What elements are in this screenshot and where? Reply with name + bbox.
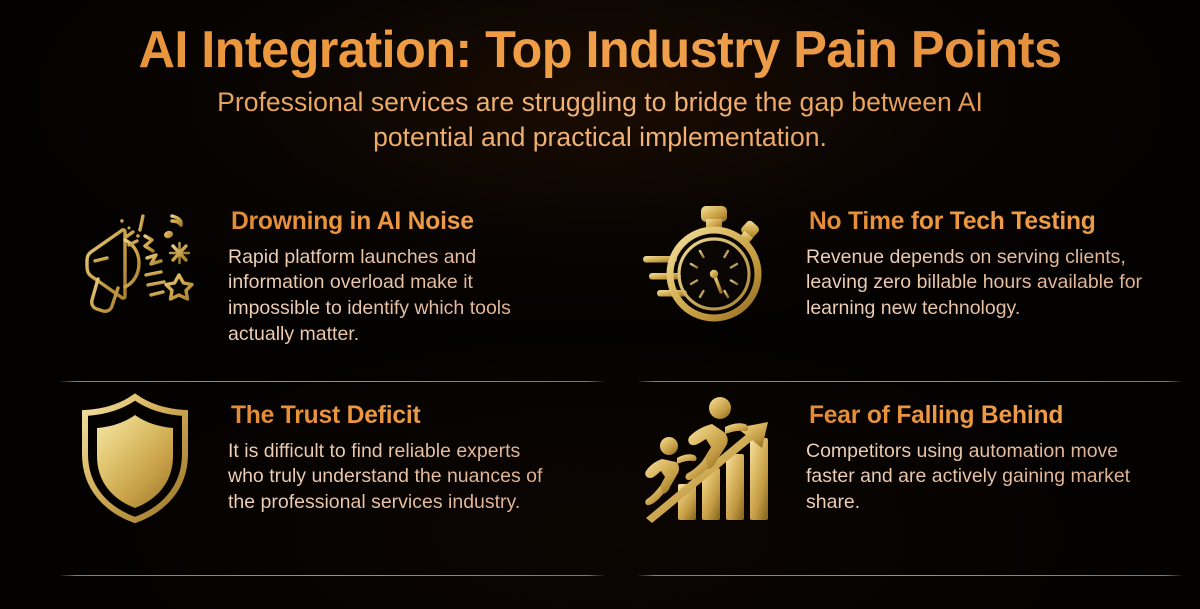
- stopwatch-speed-icon: [638, 194, 788, 334]
- pain-point-card: Drowning in AI Noise Rapid platform laun…: [60, 188, 622, 382]
- pain-point-card: No Time for Tech Testing Revenue depends…: [638, 188, 1200, 382]
- card-description: Revenue depends on serving clients, leav…: [806, 245, 1164, 323]
- card-body: No Time for Tech Testing Revenue depends…: [806, 194, 1200, 322]
- card-description: Competitors using automation move faster…: [806, 439, 1136, 517]
- pain-points-grid: Drowning in AI Noise Rapid platform laun…: [0, 188, 1200, 576]
- card-description: It is difficult to find reliable experts…: [228, 439, 558, 517]
- card-body: Drowning in AI Noise Rapid platform laun…: [228, 194, 622, 348]
- pain-point-card: The Trust Deficit It is difficult to fin…: [60, 382, 622, 576]
- megaphone-noise-icon: [60, 194, 210, 334]
- infographic-canvas: AI Integration: Top Industry Pain Points…: [0, 0, 1200, 609]
- page-title: AI Integration: Top Industry Pain Points: [18, 22, 1182, 78]
- card-title: Drowning in AI Noise: [231, 208, 619, 236]
- growth-chart-runners-icon: [638, 388, 788, 528]
- card-title: No Time for Tech Testing: [809, 208, 1197, 236]
- card-body: Fear of Falling Behind Competitors using…: [806, 388, 1200, 516]
- header: AI Integration: Top Industry Pain Points…: [0, 0, 1200, 154]
- card-title: Fear of Falling Behind: [809, 402, 1197, 430]
- card-description: Rapid platform launches and information …: [228, 245, 558, 349]
- card-body: The Trust Deficit It is difficult to fin…: [228, 388, 622, 516]
- page-subtitle: Professional services are struggling to …: [167, 85, 1034, 154]
- shield-icon: [60, 388, 210, 528]
- pain-point-card: Fear of Falling Behind Competitors using…: [638, 382, 1200, 576]
- card-title: The Trust Deficit: [231, 402, 619, 430]
